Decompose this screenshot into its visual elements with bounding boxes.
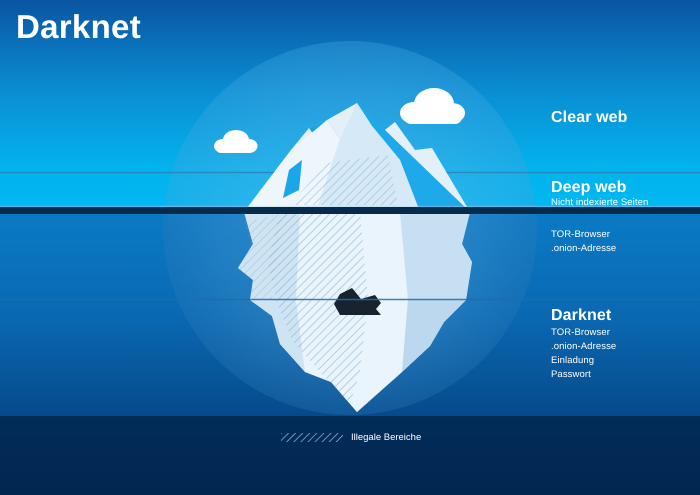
label-darknet: Darknet: [551, 307, 611, 325]
label-deep-web: Deep web: [551, 179, 627, 197]
abyss-background: [0, 416, 700, 495]
list-darknet-requirements: TOR-Browser .onion-Adresse Einladung Pas…: [551, 326, 616, 382]
legend-hatch-swatch: [281, 433, 343, 442]
label-deep-web-subtitle: Nicht indexierte Seiten: [551, 197, 648, 208]
list-item: TOR-Browser: [551, 326, 616, 340]
legend-label: Illegale Bereiche: [351, 432, 421, 443]
list-item: .onion-Adresse: [551, 340, 616, 354]
list-item: Einladung: [551, 354, 616, 368]
legend: Illegale Bereiche: [281, 432, 421, 443]
list-item: TOR-Browser: [551, 228, 616, 242]
infographic-canvas: Darknet Clear web Deep web Nicht indexie…: [0, 0, 700, 495]
waterline-band: [0, 207, 700, 214]
list-tor-access: TOR-Browser .onion-Adresse: [551, 228, 616, 256]
label-clear-web: Clear web: [551, 109, 628, 127]
list-item: .onion-Adresse: [551, 242, 616, 256]
list-item: Passwort: [551, 368, 616, 382]
page-title: Darknet: [16, 8, 141, 46]
